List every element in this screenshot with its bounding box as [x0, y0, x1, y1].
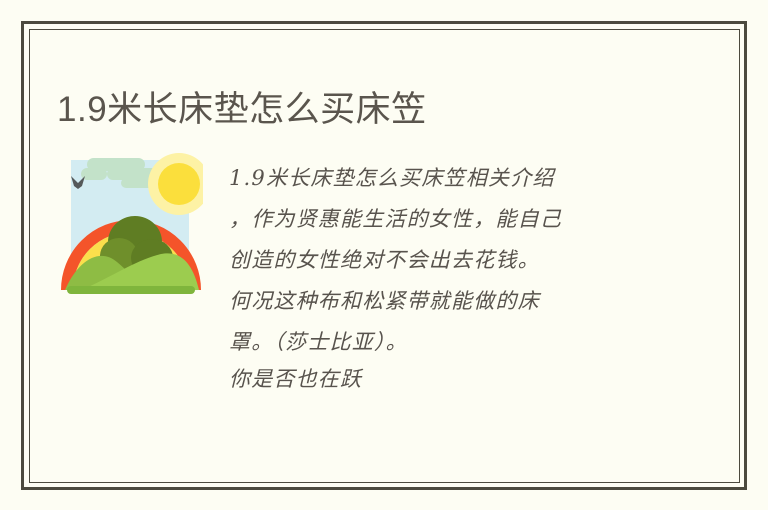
article-page: 1.9米长床垫怎么买床笠	[0, 0, 768, 510]
page-title: 1.9米长床垫怎么买床笠	[57, 87, 697, 133]
body-line: 1.9米长床垫怎么买床笠相关介绍	[229, 158, 679, 199]
article-body: 1.9米长床垫怎么买床笠相关介绍 ，作为贤惠能生活的女性，能自己 创造的女性绝对…	[229, 158, 679, 396]
body-line: 罩。（莎士比亚）。	[229, 322, 679, 363]
body-line: ，作为贤惠能生活的女性，能自己	[229, 199, 679, 240]
rainbow-landscape-illustration	[57, 150, 205, 298]
body-line: 何况这种布和松紧带就能做的床	[229, 281, 679, 322]
body-line: 创造的女性绝对不会出去花钱。	[229, 240, 679, 281]
article-content: 1.9米长床垫怎么买床笠相关介绍 ，作为贤惠能生活的女性，能自己 创造的女性绝对…	[57, 150, 687, 430]
body-line: 你是否也在跃	[229, 363, 679, 396]
